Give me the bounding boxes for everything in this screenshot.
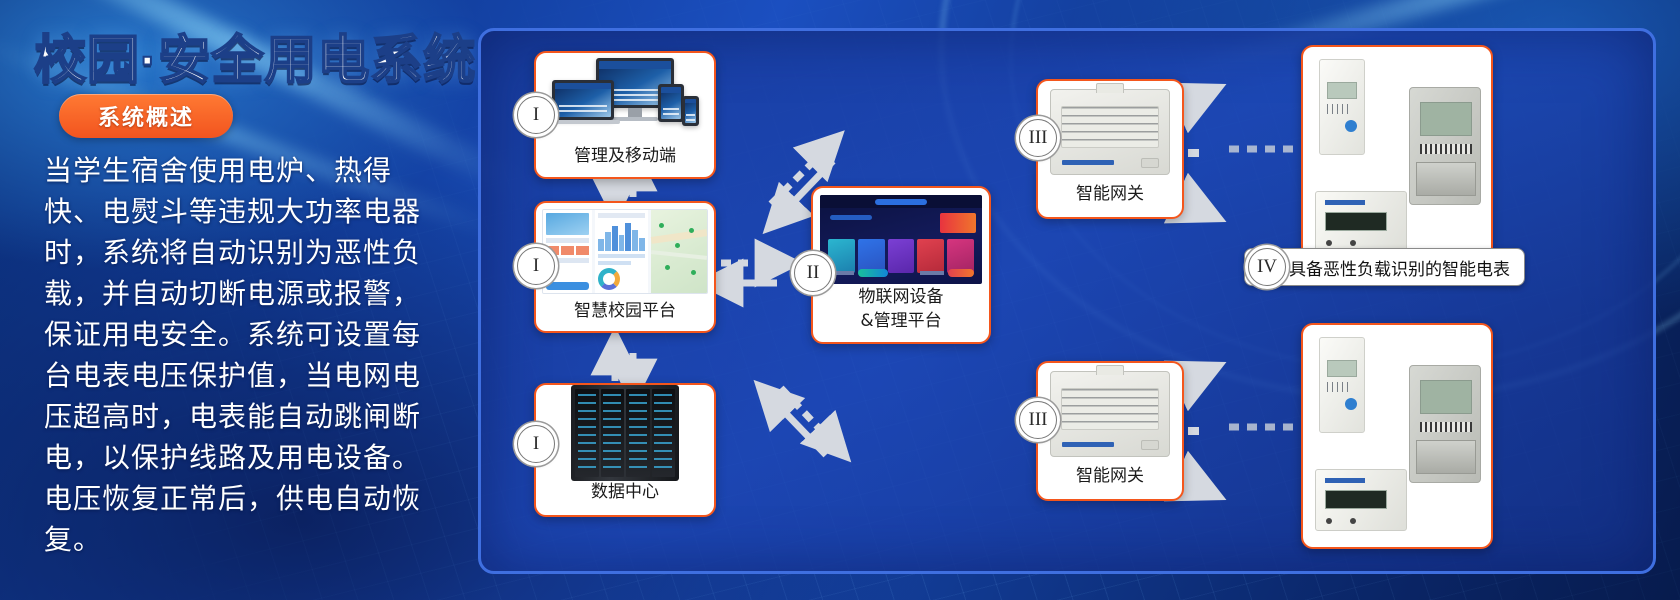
- meter-single-phase-icon: [1319, 337, 1365, 433]
- meter-three-phase-icon: [1409, 365, 1481, 483]
- meter-din-rail-icon: [1315, 469, 1407, 531]
- section-badge: 系统概述: [59, 94, 233, 138]
- gateway-device-icon: [1038, 81, 1182, 183]
- numeral-chip-ii: II: [794, 254, 832, 292]
- numeral-chip-i: I: [517, 96, 555, 134]
- node-label: 智能网关: [1038, 183, 1182, 217]
- node-data-center[interactable]: 数据中心: [534, 383, 716, 517]
- node-management-mobile[interactable]: 管理及移动端: [534, 51, 716, 179]
- numeral-chip-i: I: [517, 247, 555, 285]
- node-label-line1: 物联网设备: [813, 286, 989, 310]
- meter-din-rail-icon: [1315, 191, 1407, 253]
- node-label: 管理及移动端: [536, 145, 714, 177]
- node-gateway-top[interactable]: 智能网关: [1036, 79, 1184, 219]
- node-label: 智能网关: [1038, 465, 1182, 499]
- architecture-diagram-panel: 管理及移动端 I: [478, 28, 1656, 574]
- iot-dashboard-icon: [813, 188, 989, 286]
- node-smart-campus-platform[interactable]: 智慧校园平台: [534, 201, 716, 333]
- arrow-iot-gateway-bottom: [772, 388, 833, 455]
- node-label: 数据中心: [536, 481, 714, 515]
- meter-single-phase-icon: [1319, 59, 1365, 155]
- node-smart-meters-bottom[interactable]: [1301, 323, 1493, 549]
- server-rack-icon: [536, 385, 714, 481]
- numeral-chip-i: I: [517, 425, 555, 463]
- meter-three-phase-icon: [1409, 87, 1481, 205]
- devices-icon: [536, 53, 714, 145]
- tablet-icon: [658, 84, 684, 122]
- callout-label: 具备恶性负载识别的智能电表: [1289, 255, 1510, 280]
- node-smart-meters-top[interactable]: [1301, 45, 1493, 271]
- node-label-line2: &管理平台: [813, 310, 989, 342]
- node-label: 智慧校园平台: [536, 300, 714, 332]
- numeral-chip-iv: IV: [1248, 248, 1286, 286]
- numeral-chip-iii: III: [1019, 119, 1057, 157]
- gateway-device-icon: [1038, 363, 1182, 465]
- system-description: 当学生宿舍使用电炉、热得快、电熨斗等违规大功率电器时，系统将自动识别为恶性负载，…: [44, 150, 444, 560]
- callout-smart-meter[interactable]: 具备恶性负载识别的智能电表: [1244, 248, 1525, 286]
- dashboard-map-icon: [536, 203, 714, 300]
- arrow-campus-iot: [721, 263, 777, 283]
- smart-meters-icon: [1303, 325, 1491, 547]
- phone-icon: [682, 96, 699, 126]
- page-title: 校园·安全用电系统: [34, 18, 476, 93]
- arrow-campus-datacenter: [615, 353, 633, 381]
- left-info-column: 校园·安全用电系统 系统概述 当学生宿舍使用电炉、热得快、电熨斗等违规大功率电器…: [0, 0, 470, 600]
- numeral-chip-iii: III: [1019, 401, 1057, 439]
- laptop-icon: [552, 80, 614, 120]
- smart-meters-icon: [1303, 47, 1491, 269]
- node-gateway-bottom[interactable]: 智能网关: [1036, 361, 1184, 501]
- node-iot-platform[interactable]: 物联网设备 &管理平台: [811, 186, 991, 344]
